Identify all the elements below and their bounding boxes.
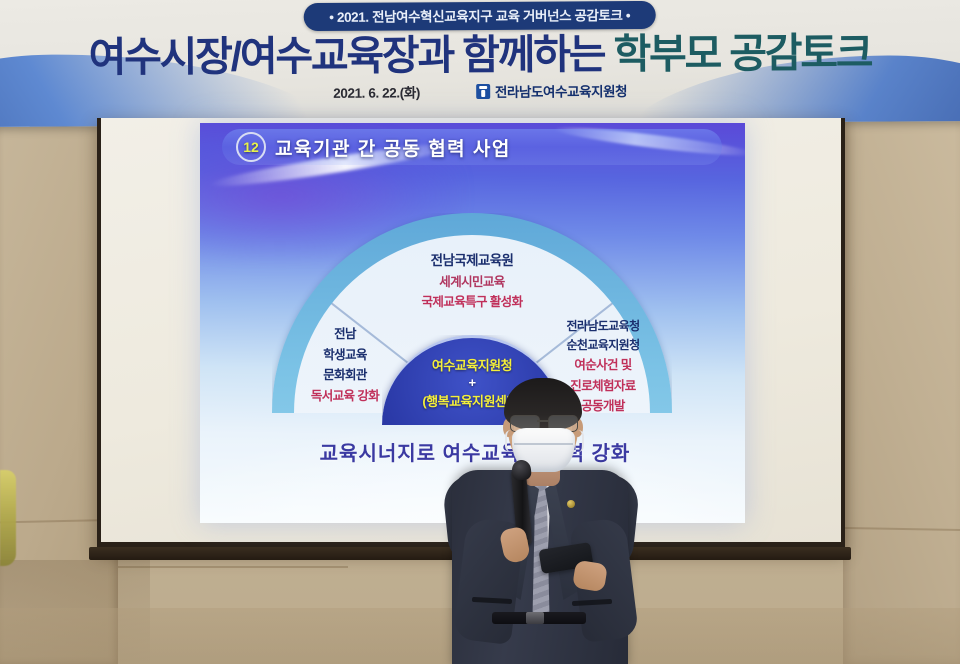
projection-screen-frame: 12 교육기관 간 공동 협력 사업 전남국제교육원 세계시민교육 국제교육특구… [97,118,845,550]
diagram-center-hub-text: 여수교육지원청 + (행복교육지원센터) [382,345,562,419]
segment-left-sub2: 독서교육 강화 [311,385,379,404]
wall-seam [118,566,348,568]
slide-title: 교육기관 간 공동 협력 사업 [275,134,511,161]
banner-headline-primary: 여수시장/여수교육장과 함께하는 [88,31,604,80]
event-banner: • 2021. 전남여수혁신교육지구 교육 거버넌스 공감토크 • 여수시장/여… [0,0,960,127]
education-office-logo-icon [476,83,490,98]
projection-screen-surface: 12 교육기관 간 공동 협력 사업 전남국제교육원 세계시민교육 국제교육특구… [101,118,841,542]
hub-plus: + [468,375,475,390]
hub-line1: 여수교육지원청 [432,355,512,374]
banner-organization-label: 전라남도여수교육지원청 [495,80,627,101]
segment-left-head3: 문화회관 [323,364,367,383]
screen-bottom-bar [89,547,851,560]
hub-line2: (행복교육지원센터) [422,391,521,410]
banner-organization: 전라남도여수교육지원청 [476,80,627,101]
banner-subtitle-pill: • 2021. 전남여수혁신교육지구 교육 거버넌스 공감토크 • [303,1,656,31]
floor [0,608,960,664]
segment-right-sub2: 진로체험자료 [570,375,635,394]
slide-header: 12 교육기관 간 공동 협력 사업 [222,129,722,165]
segment-top-head: 전남국제교육원 [431,249,514,269]
segment-right-head2: 순천교육지원청 [566,336,639,353]
slide-caption: 교육시너지로 여수교육 경쟁력 강화 [250,437,700,466]
projected-slide: 12 교육기관 간 공동 협력 사업 전남국제교육원 세계시민교육 국제교육특구… [200,123,745,523]
banner-date: 2021. 6. 22.(화) [333,81,420,102]
banner-headline-secondary: 학부모 공감토크 [613,30,871,78]
banner-headline: 여수시장/여수교육장과 함께하는 학부모 공감토크 [88,32,871,80]
segment-right-head1: 전라남도교육청 [566,317,639,334]
photo-scene: • 2021. 전남여수혁신교육지구 교육 거버넌스 공감토크 • 여수시장/여… [0,0,960,664]
diagram-segment-top: 전남국제교육원 세계시민교육 국제교육특구 활성화 [382,249,562,310]
segment-left-head1: 전남 [334,323,356,342]
segment-top-sub: 세계시민교육 [439,271,504,290]
segment-top-sub2: 국제교육특구 활성화 [422,291,523,310]
segment-left-head2: 학생교육 [323,344,367,363]
semicircle-diagram: 전남국제교육원 세계시민교육 국제교육특구 활성화 전남 학생교육 문화회관 독… [272,213,672,423]
banner-subline: 2021. 6. 22.(화) 전라남도여수교육지원청 [333,80,627,102]
segment-right-sub3: 공동개발 [581,395,625,414]
side-object [0,470,16,566]
segment-right-sub1: 여순사건 및 [574,354,631,373]
slide-number-badge: 12 [236,132,266,162]
